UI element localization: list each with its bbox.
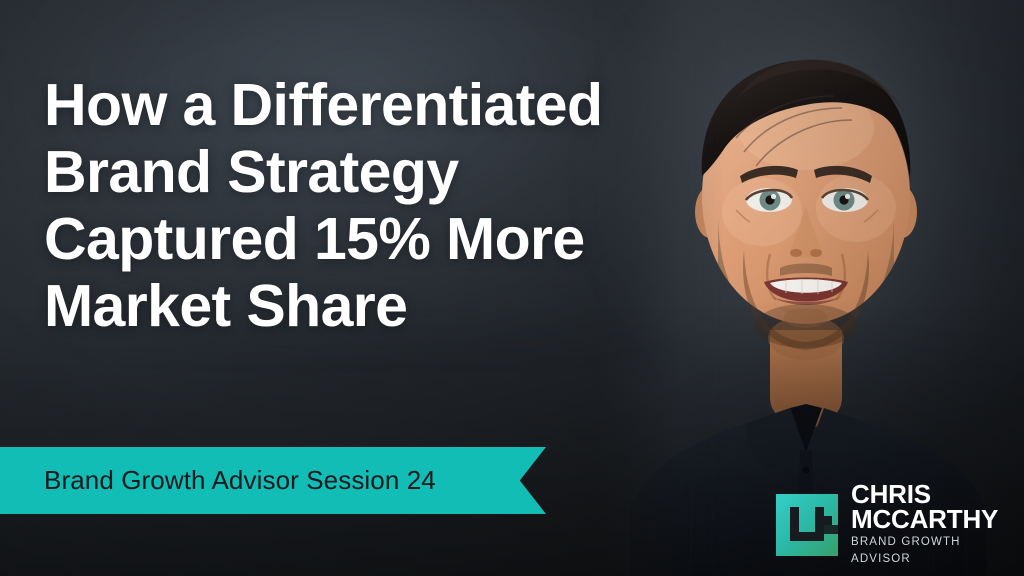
brand-text-block: CHRIS MCCARTHY BRAND GROWTH ADVISOR	[851, 482, 1024, 568]
brand-tagline: BRAND GROWTH ADVISOR	[851, 532, 1024, 568]
chris-mccarthy-monogram-icon	[776, 494, 838, 556]
brand-lockup: CHRIS MCCARTHY BRAND GROWTH ADVISOR	[776, 482, 1024, 568]
thumbnail-canvas: How a Differentiated Brand Strategy Capt…	[0, 0, 1024, 576]
page-title: How a Differentiated Brand Strategy Capt…	[44, 72, 734, 340]
session-banner: Brand Growth Advisor Session 24	[0, 447, 546, 514]
session-banner-label: Brand Growth Advisor Session 24	[0, 465, 436, 496]
brand-name-last: MCCARTHY	[851, 507, 1024, 532]
